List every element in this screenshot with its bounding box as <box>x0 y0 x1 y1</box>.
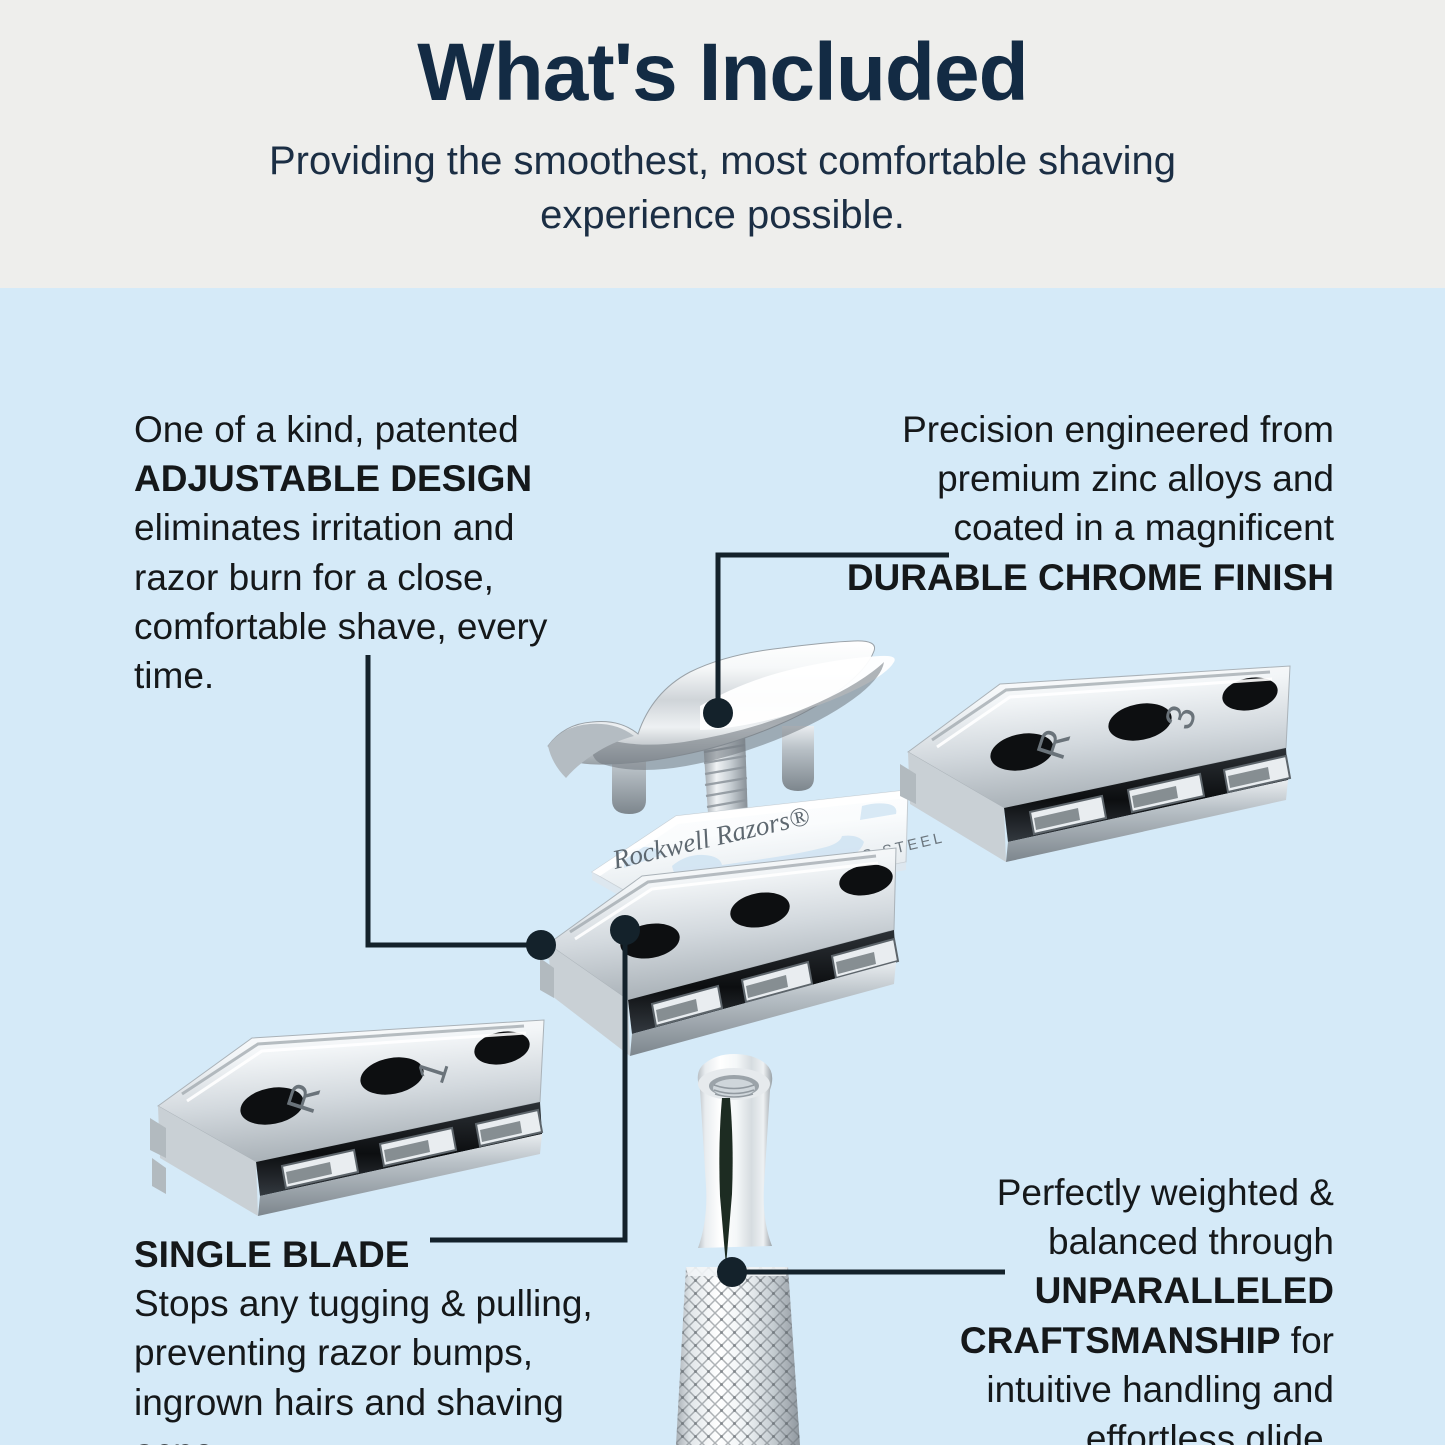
callout-adjustable-tail: eliminates irritation and razor burn for… <box>134 507 547 696</box>
callout-single-blade-tail: Stops any tugging & pulling, preventing … <box>134 1283 593 1445</box>
razor-base-plate-r3: R 3 <box>900 666 1290 862</box>
callout-adjustable-bold: ADJUSTABLE DESIGN <box>134 458 532 499</box>
razor-base-plate-r1: R 1 <box>150 1020 544 1216</box>
razor-handle <box>676 1054 802 1445</box>
razor-base-plate-center <box>536 848 898 1056</box>
callout-chrome-bold: DURABLE CHROME FINISH <box>847 557 1334 598</box>
callout-adjustable-design: One of a kind, patented ADJUSTABLE DESIG… <box>134 405 604 700</box>
callout-adjustable-lead: One of a kind, patented <box>134 409 519 450</box>
callout-craftsmanship-bold: UNPARALLELED CRAFTSMANSHIP <box>960 1270 1334 1360</box>
callout-craftsmanship-lead: Perfectly weighted & balanced through <box>997 1172 1334 1262</box>
infographic-page: What's Included Providing the smoothest,… <box>0 0 1445 1445</box>
callout-single-blade-bold: SINGLE BLADE <box>134 1234 409 1275</box>
callout-durable-chrome: Precision engineered from premium zinc a… <box>826 405 1334 602</box>
callout-single-blade: SINGLE BLADE Stops any tugging & pulling… <box>134 1230 629 1445</box>
callout-craftsmanship: Perfectly weighted & balanced through UN… <box>900 1168 1334 1445</box>
callout-chrome-lead: Precision engineered from premium zinc a… <box>902 409 1334 548</box>
